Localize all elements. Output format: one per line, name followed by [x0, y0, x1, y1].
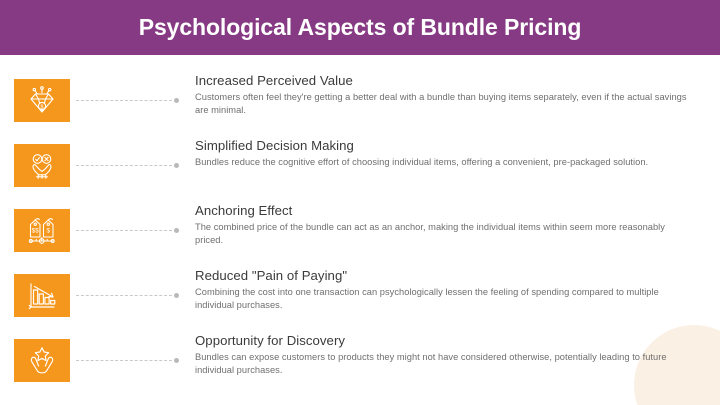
list-item: $$ $ [0, 202, 720, 267]
icon-tile: $$ $ [14, 209, 70, 252]
list-item-description: Customers often feel they're getting a b… [195, 91, 695, 117]
connector-line [76, 164, 179, 167]
list-item-text: Reduced "Pain of Paying" Combining the c… [195, 268, 695, 313]
connector-line [76, 359, 179, 362]
list-item-title: Anchoring Effect [195, 203, 695, 218]
list-item: Opportunity for Discovery Bundles can ex… [0, 332, 720, 397]
list-item-text: Anchoring Effect The combined price of t… [195, 203, 695, 248]
icon-tile [14, 144, 70, 187]
page-title: Psychological Aspects of Bundle Pricing [139, 16, 582, 39]
slide-header: Psychological Aspects of Bundle Pricing [0, 0, 720, 55]
connector-line [76, 229, 179, 232]
list-item-description: Combining the cost into one transaction … [195, 286, 695, 312]
connector-line [76, 294, 179, 297]
list-item-text: Increased Perceived Value Customers ofte… [195, 73, 695, 118]
declining-bar-chart-arrow-icon [26, 280, 58, 312]
svg-text:$: $ [41, 104, 44, 110]
hands-holding-star-icon [26, 345, 58, 377]
list-item-title: Increased Perceived Value [195, 73, 695, 88]
icon-tile [14, 339, 70, 382]
list-item-text: Simplified Decision Making Bundles reduc… [195, 138, 695, 169]
price-tags-balance-icon: $$ $ [26, 215, 58, 247]
list-item-title: Opportunity for Discovery [195, 333, 695, 348]
list-item-title: Simplified Decision Making [195, 138, 695, 153]
diamond-gem-dollar-icon: $ [26, 85, 58, 117]
list-item-description: The combined price of the bundle can act… [195, 221, 695, 247]
list-item-description: Bundles reduce the cognitive effort of c… [195, 156, 695, 169]
list-item: $ Increased Perceived Value Customers of… [0, 72, 720, 137]
list-item-title: Reduced "Pain of Paying" [195, 268, 695, 283]
list-item: Simplified Decision Making Bundles reduc… [0, 137, 720, 202]
hands-check-cross-choice-icon [26, 150, 58, 182]
list-item-description: Bundles can expose customers to products… [195, 351, 695, 377]
aspects-list: $ Increased Perceived Value Customers of… [0, 72, 720, 397]
icon-tile: $ [14, 79, 70, 122]
list-item-text: Opportunity for Discovery Bundles can ex… [195, 333, 695, 378]
icon-tile [14, 274, 70, 317]
connector-line [76, 99, 179, 102]
list-item: Reduced "Pain of Paying" Combining the c… [0, 267, 720, 332]
svg-text:$$: $$ [32, 227, 39, 234]
svg-text:$: $ [47, 227, 51, 234]
slide-canvas: Psychological Aspects of Bundle Pricing [0, 0, 720, 405]
